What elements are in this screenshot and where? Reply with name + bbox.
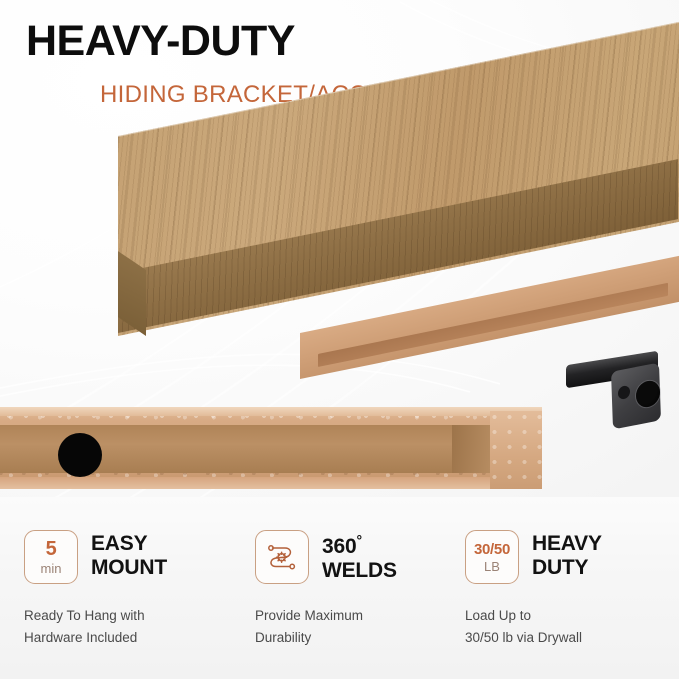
feature-desc-line1: Ready To Hang with — [24, 605, 167, 627]
feature-desc-line1: Load Up to — [465, 605, 602, 627]
badge-unit: min — [41, 562, 62, 575]
weld-path-badge — [255, 530, 309, 584]
feature-header: 360° WELDS — [255, 530, 397, 584]
badge-value: 30/50 — [474, 542, 510, 557]
cross-section-bottom-lip — [0, 477, 542, 489]
timer-badge: 5 min — [24, 530, 78, 584]
hero-shelf-image — [0, 118, 679, 386]
feature-title-line2: WELDS — [322, 559, 397, 583]
product-infographic: HEAVY-DUTY HIDING BRACKET/ACCESSORY 5 mi… — [0, 0, 679, 679]
cross-section-right-end-face — [490, 411, 542, 489]
cross-section-top-lip — [0, 407, 542, 416]
feature-heavy-duty: 30/50 LB HEAVY DUTY Load Up to 30/50 lb … — [465, 530, 602, 649]
cross-section-cavity-end-wall — [452, 425, 490, 473]
weld-path-icon — [265, 542, 299, 572]
feature-desc-line2: Durability — [255, 627, 397, 649]
feature-easy-mount: 5 min EASY MOUNT Ready To Hang with Hard… — [24, 530, 167, 649]
feature-title-line1: EASY — [91, 532, 167, 556]
feature-description: Load Up to 30/50 lb via Drywall — [465, 605, 602, 649]
feature-desc-line1: Provide Maximum — [255, 605, 397, 627]
feature-title-line2: MOUNT — [91, 556, 167, 580]
feature-description: Provide Maximum Durability — [255, 605, 397, 649]
feature-title-line2: DUTY — [532, 556, 602, 580]
cross-section-mounting-hole — [58, 433, 102, 477]
feature-header: 5 min EASY MOUNT — [24, 530, 167, 584]
weight-capacity-badge: 30/50 LB — [465, 530, 519, 584]
feature-desc-line2: Hardware Included — [24, 627, 167, 649]
feature-360-welds: 360° WELDS Provide Maximum Durability — [255, 530, 397, 649]
feature-title: HEAVY DUTY — [532, 530, 602, 581]
feature-title-line1: 360° — [322, 532, 397, 559]
badge-unit: LB — [484, 560, 500, 573]
feature-highlights: 5 min EASY MOUNT Ready To Hang with Hard… — [0, 497, 679, 679]
feature-description: Ready To Hang with Hardware Included — [24, 605, 167, 649]
feature-header: 30/50 LB HEAVY DUTY — [465, 530, 602, 584]
feature-title: EASY MOUNT — [91, 530, 167, 581]
feature-desc-line2: 30/50 lb via Drywall — [465, 627, 602, 649]
page-title: HEAVY-DUTY — [26, 20, 295, 63]
feature-title: 360° WELDS — [322, 530, 397, 584]
badge-value: 5 — [46, 539, 57, 559]
shelf-cross-section-image — [0, 405, 679, 497]
degree-symbol: ° — [356, 532, 361, 548]
feature-title-line1: HEAVY — [532, 532, 602, 556]
welds-degree-value: 360 — [322, 535, 356, 558]
